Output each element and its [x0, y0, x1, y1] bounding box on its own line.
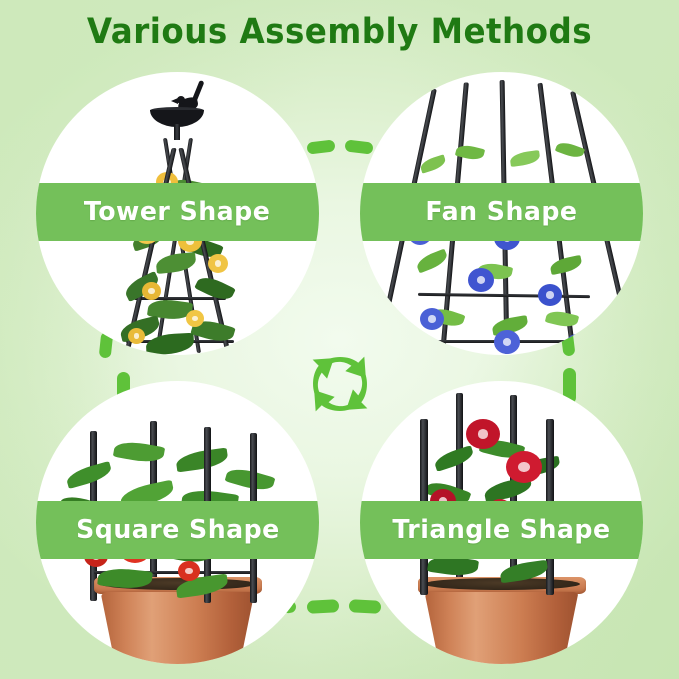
page-title: Various Assembly Methods	[24, 12, 655, 52]
flower-bloom	[430, 489, 456, 513]
flower-bloom	[494, 330, 520, 354]
flower-bloom	[134, 220, 160, 244]
flower-bloom	[408, 222, 432, 245]
flower-bloom	[420, 308, 444, 330]
foliage	[419, 154, 447, 173]
foliage	[175, 447, 229, 472]
panel-fan[interactable]: Fan Shape	[360, 72, 643, 355]
flower-bloom	[562, 192, 590, 218]
flower-bloom	[494, 226, 520, 250]
foliage	[113, 439, 165, 465]
tomato-fruit	[118, 531, 152, 563]
foliage	[146, 333, 195, 355]
flower-bloom	[208, 254, 228, 273]
flower-bloom	[128, 328, 145, 344]
panel-square[interactable]: Square Shape	[36, 381, 319, 664]
tomato-fruit	[178, 561, 200, 581]
foliage	[555, 140, 585, 161]
flower-bloom	[506, 451, 542, 483]
panel-square-scene	[36, 381, 319, 664]
flower-bloom	[178, 230, 202, 252]
tomato-fruit	[84, 545, 108, 567]
foliage	[471, 523, 525, 550]
foliage	[545, 308, 579, 329]
foliage	[427, 554, 479, 579]
flower-bloom	[488, 499, 512, 521]
flower-bloom	[142, 282, 161, 300]
foliage	[509, 150, 541, 167]
panel-tower[interactable]: Tower Shape	[36, 72, 319, 355]
foliage	[415, 249, 450, 274]
panel-fan-scene	[360, 72, 643, 355]
panel-triangle[interactable]: Triangle Shape	[360, 381, 643, 664]
foliage	[213, 525, 266, 555]
fan-pole	[500, 80, 510, 354]
fan-pole	[570, 91, 635, 351]
recycle-arrows-icon	[302, 346, 378, 422]
flower-bloom	[468, 268, 494, 292]
foliage	[119, 480, 176, 510]
product-infographic: Various Assembly Methods	[0, 0, 679, 679]
foliage	[65, 461, 114, 489]
plant-pot	[418, 577, 586, 664]
panel-triangle-scene	[360, 381, 643, 664]
foliage	[433, 189, 466, 212]
flower-bloom	[466, 419, 500, 449]
foliage	[433, 445, 476, 472]
flower-bloom	[566, 334, 588, 354]
tomato-fruit	[94, 501, 120, 525]
flower-bloom	[186, 310, 204, 327]
foliage	[549, 255, 583, 275]
square-stake	[250, 433, 257, 603]
panel-tower-scene	[36, 72, 319, 355]
foliage	[155, 252, 197, 274]
flower-bloom	[538, 284, 562, 306]
